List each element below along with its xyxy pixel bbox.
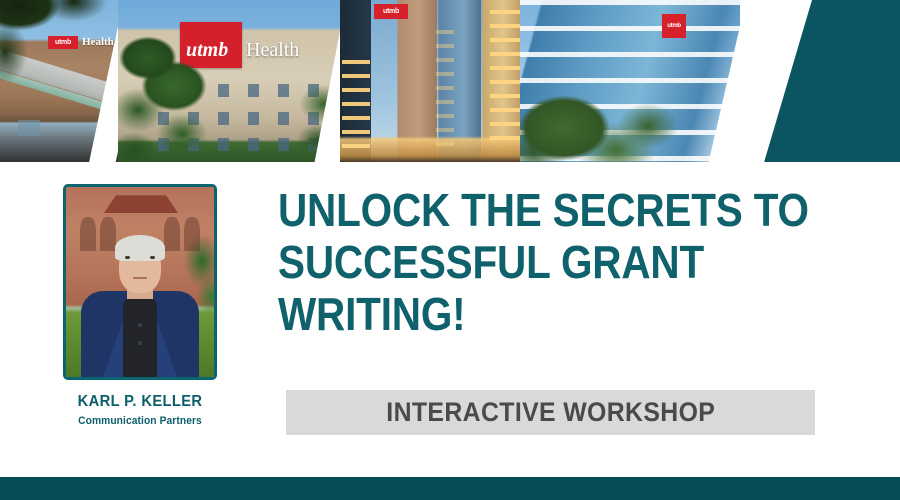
workshop-banner: INTERACTIVE WORKSHOP <box>286 390 815 435</box>
headline-line-3: WRITING! <box>278 288 771 340</box>
lit-windows <box>436 30 454 150</box>
main-content: KARL P. KELLER Communication Partners UN… <box>0 162 900 477</box>
speaker-figure <box>81 255 199 377</box>
speaker-organization: Communication Partners <box>47 415 233 427</box>
utmb-health-wordmark-1: Health <box>82 36 114 48</box>
header-photo-utmb-glass-tower: utmb <box>520 0 740 162</box>
shirt <box>123 297 157 377</box>
page-title: UNLOCK THE SECRETS TO SUCCESSFUL GRANT W… <box>278 184 771 340</box>
building-arch <box>184 217 200 251</box>
footer-bar <box>0 477 900 500</box>
building-arch <box>100 217 116 251</box>
building-arch <box>164 217 180 251</box>
building-window <box>18 120 40 136</box>
lit-windows <box>342 60 370 152</box>
tree <box>118 24 224 162</box>
header-photo-band: utmb Health EMERGENCY utmb Health utmb <box>0 0 900 162</box>
speaker-photo-frame <box>63 184 217 380</box>
utmb-logo-sign-1: utmb <box>48 36 78 49</box>
health-wordmark-2: Health <box>246 40 299 60</box>
utmb-logo-sign-4: utmb <box>662 14 686 38</box>
building-arch <box>80 217 96 251</box>
eye <box>150 256 155 259</box>
speaker-name: KARL P. KELLER <box>48 393 232 411</box>
speaker-block: KARL P. KELLER Communication Partners <box>40 184 240 427</box>
mouth <box>133 277 147 279</box>
glass-tower-image: utmb <box>520 0 740 162</box>
speaker-portrait-image <box>66 187 214 377</box>
headline-line-1: UNLOCK THE SECRETS TO <box>278 184 771 236</box>
lit-windows <box>490 10 522 150</box>
hair <box>115 235 165 261</box>
utmb-logo-sign-3: utmb <box>374 4 408 19</box>
workshop-banner-label: INTERACTIVE WORKSHOP <box>386 397 715 428</box>
building-roof <box>104 193 178 213</box>
headline-line-2: SUCCESSFUL GRANT <box>278 236 771 288</box>
eye <box>125 256 130 259</box>
